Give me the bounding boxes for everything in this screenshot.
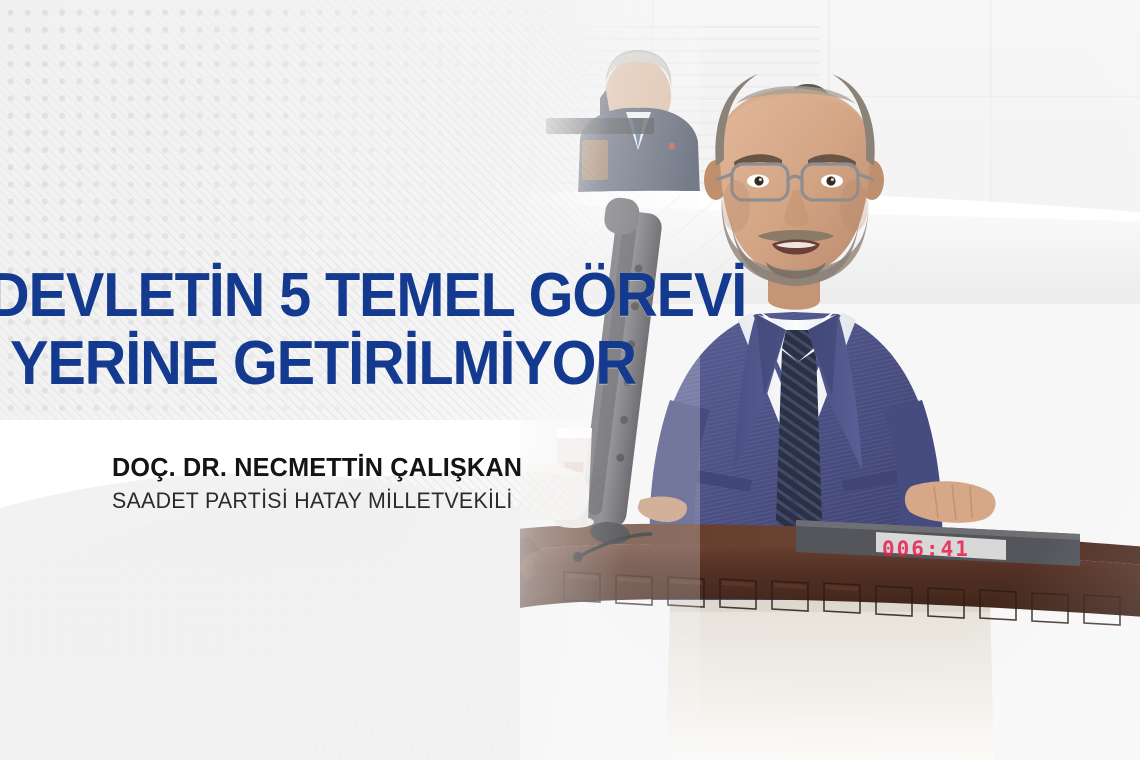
headline-line-2: YERİNE GETİRİLMİYOR	[10, 334, 726, 394]
news-banner: 006:41 DEVLETİN 5 TEMEL GÖREVİ YERİNE GE…	[0, 0, 1140, 760]
speaker-name: DOÇ. DR. NECMETTİN ÇALIŞKAN	[112, 452, 655, 483]
speaker-role: SAADET PARTİSİ HATAY MİLLETVEKİLİ	[112, 488, 655, 514]
headline: DEVLETİN 5 TEMEL GÖREVİ YERİNE GETİRİLMİ…	[0, 266, 780, 394]
speaker-caption: DOÇ. DR. NECMETTİN ÇALIŞKAN SAADET PARTİ…	[112, 452, 672, 514]
headline-line-1: DEVLETİN 5 TEMEL GÖREVİ	[0, 266, 725, 326]
